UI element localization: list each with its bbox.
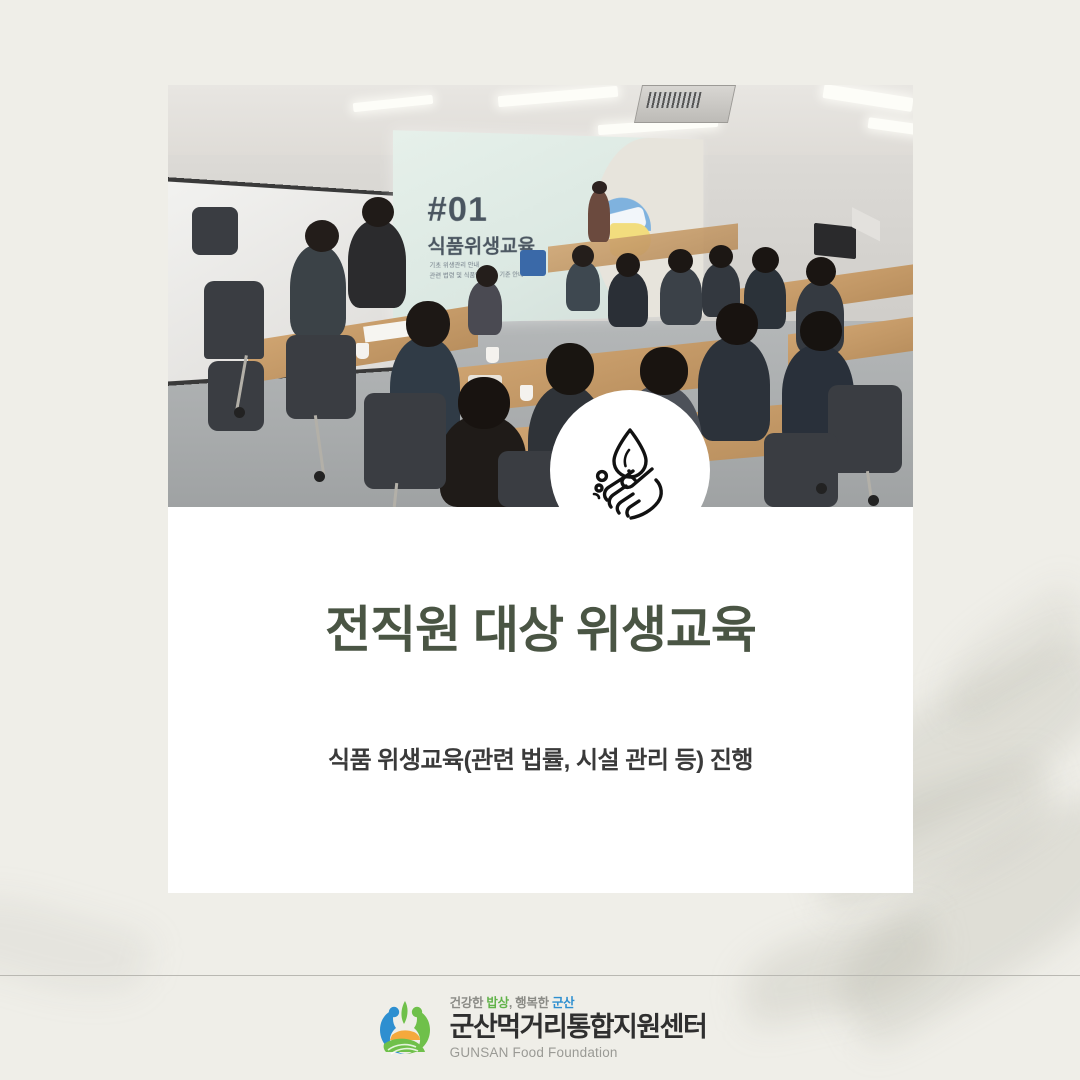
attendee-head [806, 257, 836, 286]
seminar-room-photo: #01 식품위생교육 기초 위생관리 안내 관련 법령 및 식품안전관리 기준 … [168, 85, 913, 507]
handwashing-icon [574, 414, 686, 526]
attendee [608, 271, 648, 327]
foundation-logo-text: 건강한 밥상, 행복한 군산 군산먹거리통합지원센터 GUNSAN Food F… [450, 996, 707, 1060]
page-subtitle: 식품 위생교육(관련 법률, 시설 관리 등) 진행 [168, 740, 913, 775]
attendee [566, 261, 600, 311]
office-chair [764, 433, 838, 507]
office-chair [828, 385, 902, 473]
content-card: #01 식품위생교육 기초 위생관리 안내 관련 법령 및 식품안전관리 기준 … [168, 85, 913, 893]
ceiling-projector [634, 85, 736, 123]
attendee-head [709, 245, 733, 268]
chair-caster [868, 495, 879, 506]
leaf-shadow [925, 578, 1080, 731]
storage-box [520, 250, 546, 276]
tagline-green-word: 밥상 [486, 996, 508, 1010]
paper-cup [520, 385, 533, 401]
attendee [348, 220, 406, 308]
attendee [468, 281, 502, 335]
slide-heading: 식품위생교육 [427, 231, 535, 259]
attendee-head [305, 220, 339, 252]
office-chair [364, 393, 446, 489]
attendee [290, 245, 346, 337]
tagline-blue-word: 군산 [552, 996, 574, 1010]
attendee-head [616, 253, 640, 277]
slide-bullet-1: 기초 위생관리 안내 [429, 260, 479, 270]
tagline-part-2: , 행복한 [509, 996, 549, 1010]
attendee [698, 337, 770, 441]
chair-caster [314, 471, 325, 482]
attendee-head [572, 245, 594, 267]
office-chair [204, 281, 264, 359]
organization-name-en: GUNSAN Food Foundation [450, 1045, 707, 1060]
attendee-head [716, 303, 758, 345]
foundation-logo-icon [374, 997, 436, 1059]
tagline-part-1: 건강한 [450, 996, 484, 1010]
logo-tagline: 건강한 밥상, 행복한 군산 [450, 996, 707, 1011]
attendee-head [406, 301, 450, 347]
attendee-head [668, 249, 693, 273]
attendee-head [458, 377, 510, 429]
chair-caster [816, 483, 827, 494]
chair-caster [234, 407, 245, 418]
attendee-head [362, 197, 394, 227]
page-title: 전직원 대상 위생교육 [168, 590, 913, 662]
office-chair [192, 207, 238, 255]
attendee-head [752, 247, 779, 273]
footer: 건강한 밥상, 행복한 군산 군산먹거리통합지원센터 GUNSAN Food F… [0, 976, 1080, 1080]
attendee [660, 267, 702, 325]
attendee-head [640, 347, 688, 395]
handwashing-badge [550, 390, 710, 550]
attendee-head [546, 343, 594, 395]
wall-speaker [814, 223, 856, 259]
presenter-head [592, 181, 607, 194]
paper-cup [356, 343, 369, 359]
organization-name: 군산먹거리통합지원센터 [450, 1013, 707, 1043]
slide-number: #01 [427, 190, 488, 230]
projection-screen: #01 식품위생교육 기초 위생관리 안내 관련 법령 및 식품안전관리 기준 … [393, 130, 698, 325]
office-chair [208, 361, 264, 431]
paper-cup [486, 347, 499, 363]
attendee-head [476, 265, 498, 287]
office-chair [286, 335, 356, 419]
presenter [588, 190, 610, 242]
attendee-head [800, 311, 842, 351]
